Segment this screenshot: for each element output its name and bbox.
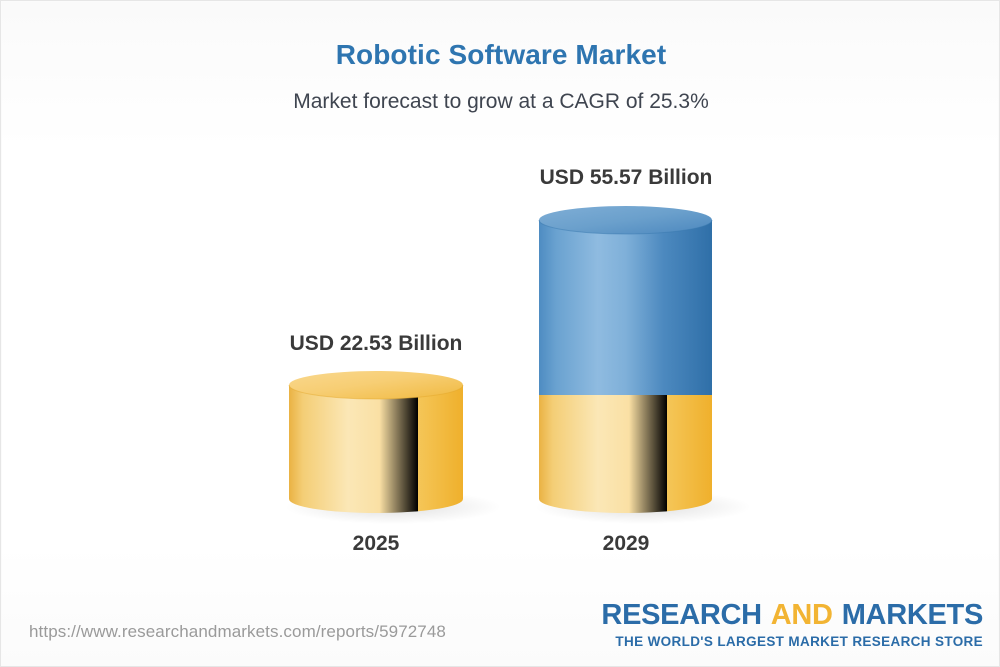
chart-plot-area	[1, 1, 1000, 667]
brand-logo-tagline: THE WORLD'S LARGEST MARKET RESEARCH STOR…	[601, 635, 983, 649]
brand-logo-wordmark: RESEARCHANDMARKETS	[601, 601, 983, 630]
source-url[interactable]: https://www.researchandmarkets.com/repor…	[29, 622, 446, 642]
brand-logo: RESEARCHANDMARKETS THE WORLD'S LARGEST M…	[601, 601, 983, 649]
category-label-2029: 2029	[526, 532, 726, 556]
cylinder-2029-growth-segment	[539, 220, 712, 395]
value-label-2029: USD 55.57 Billion	[526, 166, 726, 190]
value-label-2025: USD 22.53 Billion	[276, 332, 476, 356]
cylinder-2025	[289, 371, 463, 513]
cylinder-2025-body	[289, 385, 463, 513]
cylinder-2029	[539, 206, 712, 513]
brand-logo-part-markets: MARKETS	[842, 599, 983, 631]
brand-logo-part-research: RESEARCH	[601, 599, 761, 631]
cylinder-2029-base-segment	[539, 395, 712, 513]
category-label-2025: 2025	[276, 532, 476, 556]
brand-logo-part-and: AND	[771, 599, 833, 631]
chart-page: Robotic Software Market Market forecast …	[0, 0, 1000, 667]
